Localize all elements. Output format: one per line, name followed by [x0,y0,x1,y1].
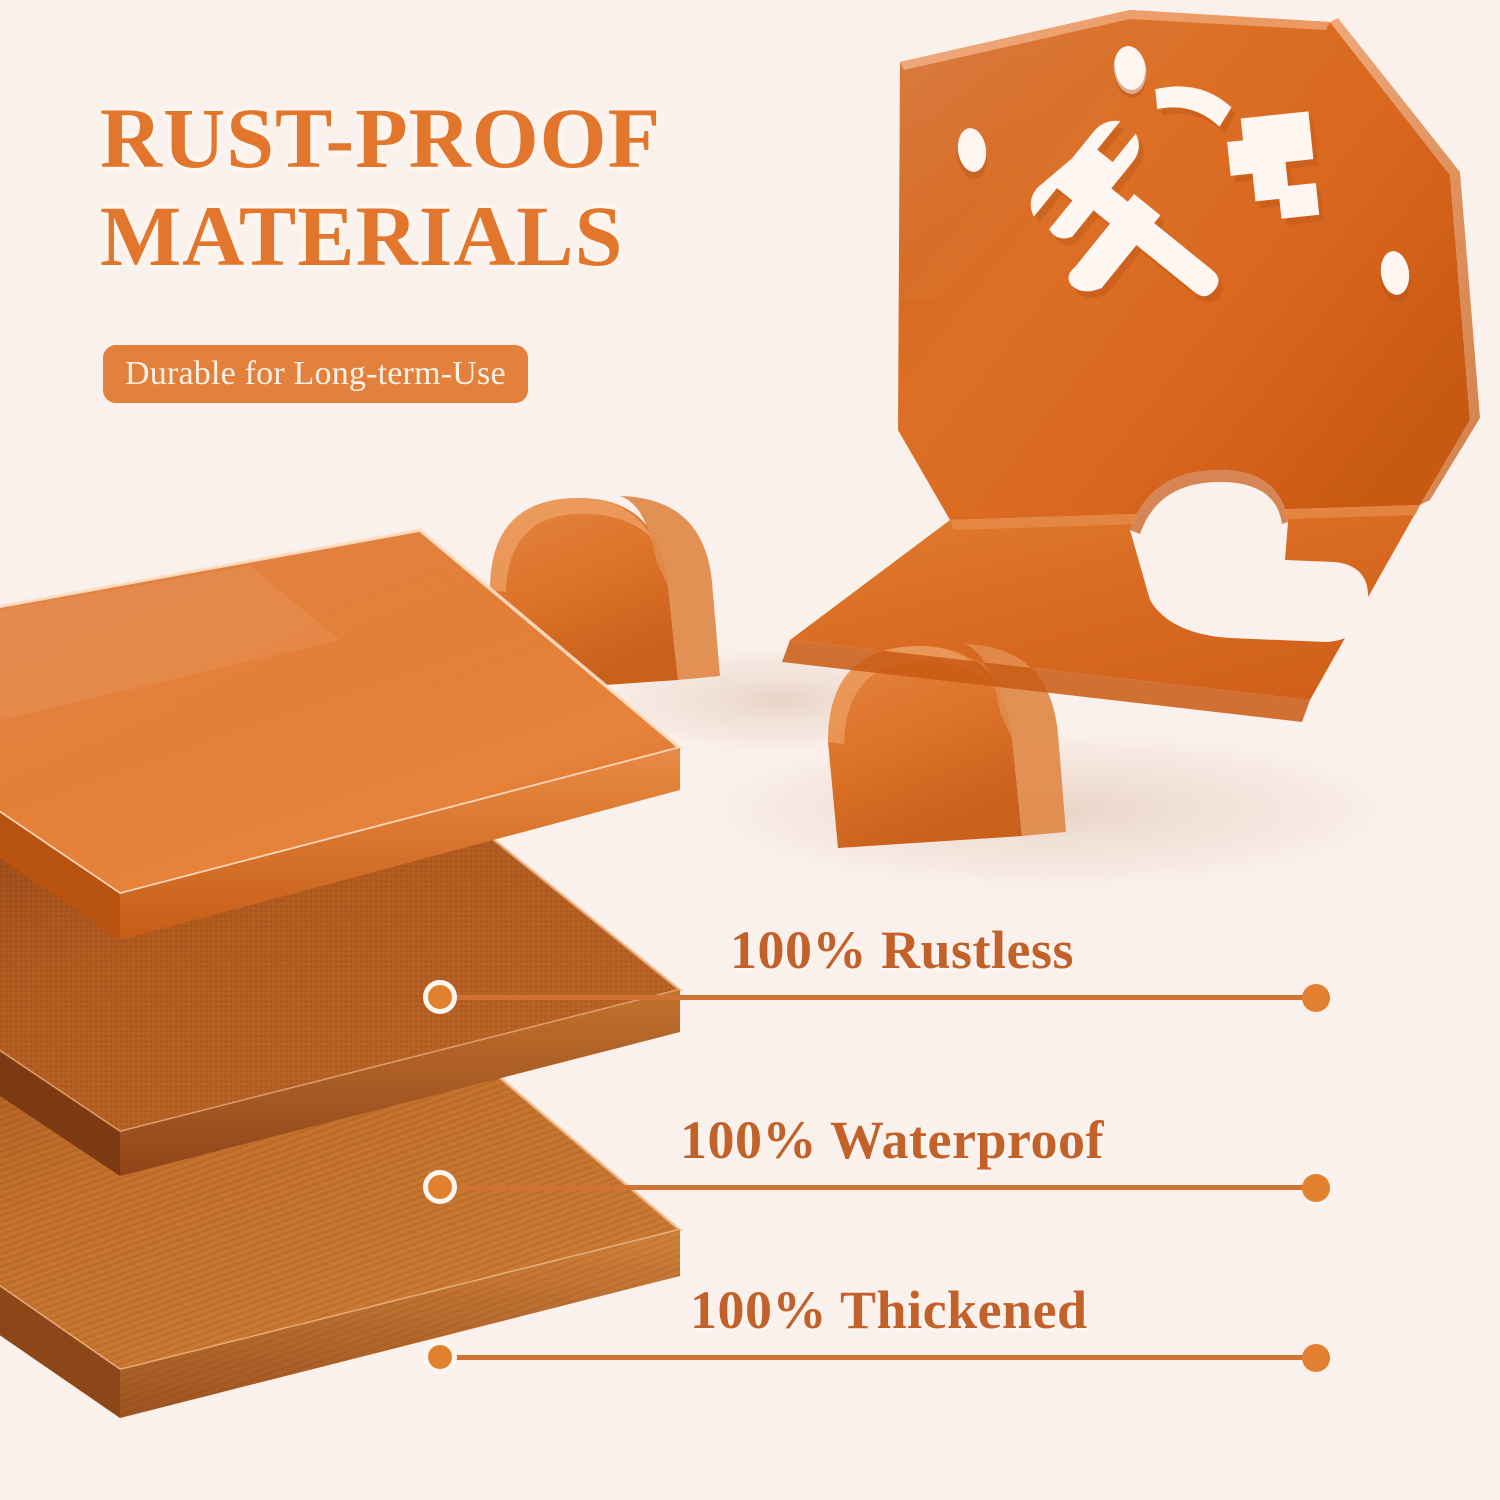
callout-end-dot [1302,984,1330,1012]
layered-panels-product-image [0,470,720,1500]
callout-anchor-dot [423,1170,457,1204]
feature-label-3: 100% Thickened [690,1279,1088,1341]
callout-end-dot [1302,1344,1330,1372]
callout-rule [440,1185,1330,1190]
callout-anchor-dot [423,980,457,1014]
feature-label-2: 100% Waterproof [680,1109,1104,1171]
callout-rule [440,1355,1330,1360]
feature-label-1: 100% Rustless [730,919,1074,981]
callout-end-dot [1302,1174,1330,1202]
callout-anchor-dot [423,1340,457,1374]
bracket-backplate [898,10,1480,520]
callout-rule [440,995,1330,1000]
panel-layer-top [0,530,680,940]
product-feature-infographic: RUST-PROOF MATERIALS Durable for Long-te… [0,0,1500,1500]
